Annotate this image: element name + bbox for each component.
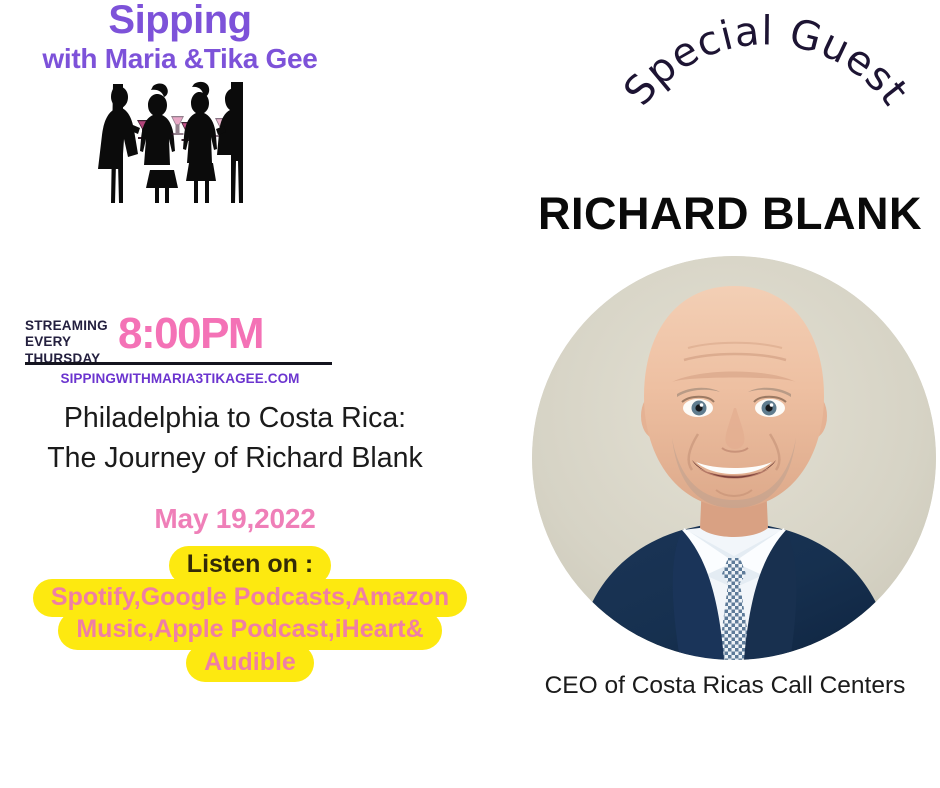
streaming-schedule-block: STREAMING EVERY THURSDAY 8:00PM: [25, 316, 335, 378]
four-women-toasting-wine-glasses-icon: [95, 78, 250, 203]
guest-name: RICHARD BLANK: [520, 188, 940, 240]
special-guest-badge: Special Guest: [592, 8, 940, 168]
show-title: Sipping: [0, 0, 360, 41]
listen-on-block: Listen on : Spotify,Google Podcasts,Amaz…: [0, 549, 500, 679]
divider-rule: [25, 362, 332, 365]
podcast-promo-graphic: Sipping with Maria &Tika Gee: [0, 0, 940, 788]
streaming-line-2: EVERY: [25, 334, 108, 350]
episode-title-line-1: Philadelphia to Costa Rica:: [0, 398, 470, 438]
svg-text:Special Guest: Special Guest: [615, 8, 917, 114]
special-guest-text: Special Guest: [615, 8, 917, 114]
guest-role: CEO of Costa Ricas Call Centers: [510, 672, 940, 700]
streaming-schedule-lines: STREAMING EVERY THURSDAY: [25, 318, 108, 367]
show-subtitle: with Maria &Tika Gee: [0, 44, 360, 73]
guest-portrait-photo: [532, 256, 936, 660]
streaming-line-1: STREAMING: [25, 318, 108, 334]
listen-platforms-line-3: Audible: [186, 644, 314, 683]
episode-date: May 19,2022: [0, 503, 470, 535]
episode-title-line-2: The Journey of Richard Blank: [0, 438, 470, 478]
streaming-time: 8:00PM: [118, 312, 263, 356]
website-url[interactable]: SIPPINGWITHMARIA3TIKAGEE.COM: [25, 371, 335, 386]
episode-title: Philadelphia to Costa Rica: The Journey …: [0, 398, 470, 479]
